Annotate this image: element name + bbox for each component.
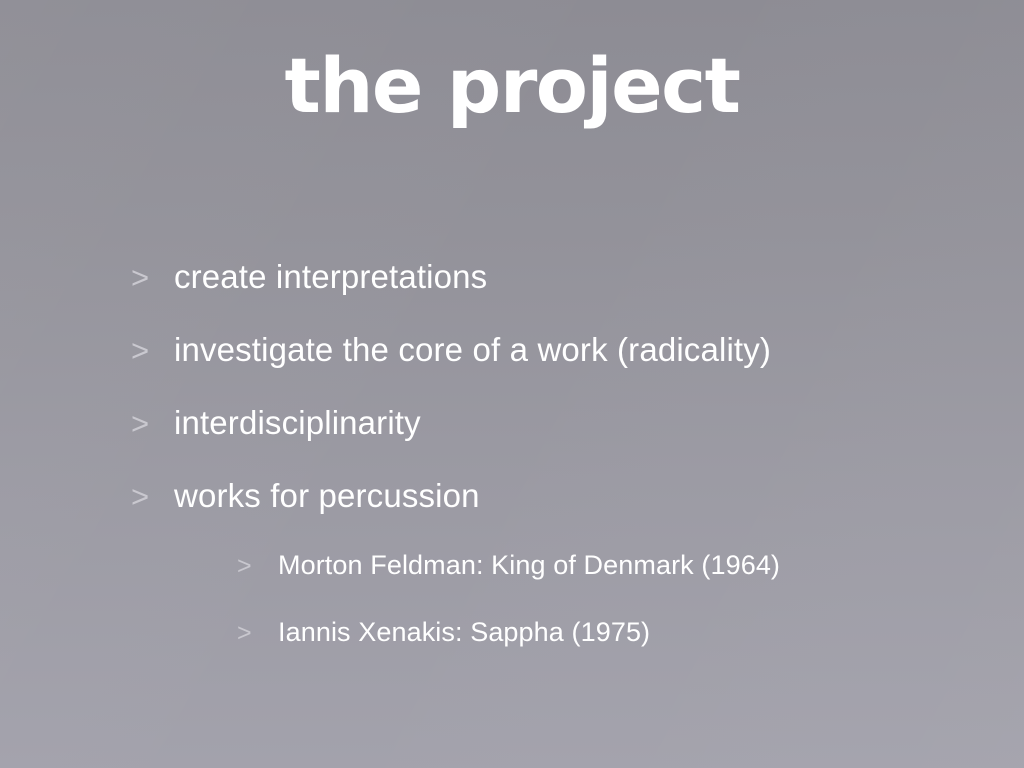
list-item-label: create interpretations <box>174 258 487 296</box>
chevron-right-icon: > <box>131 260 174 296</box>
chevron-right-icon: > <box>237 619 278 648</box>
list-item: > create interpretations <box>0 258 1024 331</box>
sub-list-item-label: Morton Feldman: King of Denmark (1964) <box>278 550 780 581</box>
presentation-slide: the project > create interpretations > i… <box>0 0 1024 768</box>
sub-list-item-label: Iannis Xenakis: Sappha (1975) <box>278 617 650 648</box>
chevron-right-icon: > <box>131 479 174 515</box>
sub-list-item: > Morton Feldman: King of Denmark (1964) <box>0 550 1024 617</box>
list-item: > interdisciplinarity <box>0 404 1024 477</box>
chevron-right-icon: > <box>131 333 174 369</box>
list-item-label: investigate the core of a work (radicali… <box>174 331 771 369</box>
list-item-label: works for percussion <box>174 477 480 515</box>
page-title: the project <box>0 48 1024 124</box>
list-item-label: interdisciplinarity <box>174 404 421 442</box>
list-item: > works for percussion <box>0 477 1024 550</box>
bullet-list: > create interpretations > investigate t… <box>0 258 1024 684</box>
chevron-right-icon: > <box>237 552 278 581</box>
chevron-right-icon: > <box>131 406 174 442</box>
sub-list-item: > Iannis Xenakis: Sappha (1975) <box>0 617 1024 684</box>
list-item: > investigate the core of a work (radica… <box>0 331 1024 404</box>
